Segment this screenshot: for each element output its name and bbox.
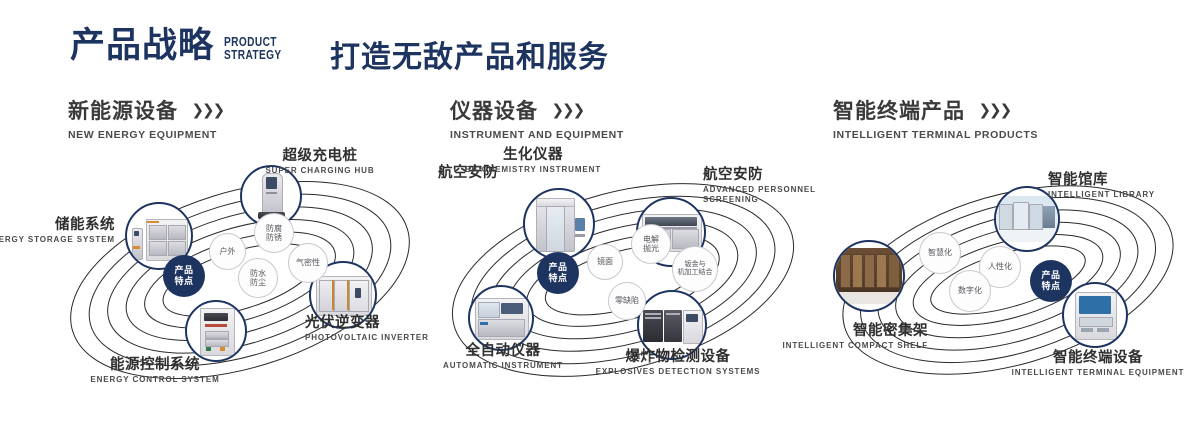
bubble-line1: 数字化	[958, 286, 982, 296]
section-header-new-energy: 新能源设备 ❯❯❯ NEW ENERGY EQUIPMENT	[68, 95, 223, 141]
bubble-feature-airtightness: 气密性	[288, 243, 328, 283]
headline: 打造无敌产品和服务	[330, 32, 609, 76]
node-biochemistry-instrument[interactable]	[523, 188, 595, 260]
bubble-line1: 智慧化	[928, 248, 952, 258]
bubble-feature-outdoor: 户外	[209, 233, 246, 270]
bubble-feature-mirror: 镜面	[587, 244, 623, 280]
bubble-line1: 户外	[220, 247, 236, 257]
bubble-feature-digitized: 数字化	[949, 270, 991, 312]
bubble-line1: 零缺陷	[615, 296, 639, 306]
section-title-cn: 新能源设备	[68, 95, 178, 125]
label-energy-control-system: 能源控制系统 ENERGY CONTROL SYSTEM	[55, 357, 255, 385]
node-automatic-instrument[interactable]	[468, 285, 534, 351]
cluster-intelligent-terminal: 智能馆库 INTELLIGENT LIBRARY 智能密集架 INTELLIGE…	[818, 160, 1198, 395]
label-cn: 智能密集架	[758, 323, 928, 340]
badge-product-features: 产品 特点	[163, 255, 205, 297]
label-en: INTELLIGENT TERMINAL EQUIPMENT	[1008, 368, 1188, 378]
badge-line1: 产品	[548, 262, 567, 273]
label-cn: 生化仪器	[458, 147, 608, 164]
badge-line2: 特点	[1041, 281, 1060, 292]
bubble-line1: 防腐	[266, 224, 282, 234]
bubble-feature-anticorrosion: 防腐 防锈	[254, 213, 294, 253]
cluster-new-energy: 储能系统 ENERGY STORAGE SYSTEM 超级充电桩 SUPER C…	[45, 155, 435, 395]
title-en: PRODUCT STRATEGY	[224, 35, 282, 61]
label-cn: 智能馆库	[1048, 172, 1188, 189]
bubble-feature-electropolishing: 电解 抛光	[631, 224, 671, 264]
node-energy-control-system[interactable]	[185, 300, 247, 362]
title-cn: 产品战略	[70, 28, 214, 63]
section-title-cn: 智能终端产品	[833, 95, 965, 125]
label-en: ENERGY CONTROL SYSTEM	[55, 375, 255, 385]
infographic-page: 产品战略 PRODUCT STRATEGY 打造无敌产品和服务 新能源设备 ❯❯…	[0, 0, 1200, 422]
label-cn: 智能终端设备	[1008, 350, 1188, 367]
section-title-en: INSTRUMENT AND EQUIPMENT	[450, 129, 624, 141]
bubble-line1: 镜面	[597, 257, 613, 267]
section-header-instrument: 仪器设备 ❯❯❯ INSTRUMENT AND EQUIPMENT	[450, 95, 624, 141]
title-en-line2: STRATEGY	[224, 48, 282, 61]
label-intelligent-library: 智能馆库 INTELLIGENT LIBRARY	[1048, 172, 1188, 200]
bubble-line1: 人性化	[988, 262, 1012, 272]
bubble-feature-zero-defect: 零缺陷	[608, 282, 646, 320]
bubble-line2: 防锈	[266, 233, 282, 243]
label-en: BIOCHEMISTRY INSTRUMENT	[458, 165, 608, 175]
label-super-charging-hub: 超级充电桩 SUPER CHARGING HUB	[245, 148, 395, 176]
bubble-line2: 防尘	[250, 278, 266, 288]
section-header-intelligent-terminal: 智能终端产品 ❯❯❯ INTELLIGENT TERMINAL PRODUCTS	[833, 95, 1038, 141]
label-en: AUTOMATIC INSTRUMENT	[423, 361, 583, 371]
badge-line1: 产品	[174, 265, 193, 276]
label-cn: 全自动仪器	[423, 343, 583, 360]
cluster-instrument: 航空安防 生化仪器 BIOCHEMISTRY INSTRUMENT 航空安防 A…	[428, 155, 818, 395]
bubble-feature-intelligent: 智慧化	[919, 232, 961, 274]
label-cn: 能源控制系统	[55, 357, 255, 374]
label-en: INTELLIGENT COMPACT SHELF	[758, 341, 928, 351]
label-en: INTELLIGENT LIBRARY	[1048, 190, 1188, 200]
badge-product-features: 产品 特点	[1030, 260, 1072, 302]
badge-line1: 产品	[1041, 270, 1060, 281]
label-en: EXPLOSIVES DETECTION SYSTEMS	[588, 367, 768, 377]
chevron-right-triple-icon: ❯❯❯	[551, 101, 583, 119]
bubble-feature-waterproof: 防水 防尘	[238, 258, 278, 298]
bubble-feature-sheetmetal-machining: 钣金与 机加工结合	[672, 246, 718, 292]
bubble-line1: 钣金与	[685, 261, 706, 270]
label-explosives-detection-systems: 爆炸物检测设备 EXPLOSIVES DETECTION SYSTEMS	[588, 349, 768, 377]
label-biochemistry-instrument: 生化仪器 BIOCHEMISTRY INSTRUMENT	[458, 147, 608, 175]
label-automatic-instrument: 全自动仪器 AUTOMATIC INSTRUMENT	[423, 343, 583, 371]
label-energy-storage-system: 储能系统 ENERGY STORAGE SYSTEM	[0, 217, 115, 245]
section-title-cn: 仪器设备	[450, 95, 538, 125]
badge-line2: 特点	[548, 273, 567, 284]
bubble-line2: 抛光	[643, 244, 659, 254]
label-en: SUPER CHARGING HUB	[245, 166, 395, 176]
label-intelligent-terminal-equipment: 智能终端设备 INTELLIGENT TERMINAL EQUIPMENT	[1008, 350, 1188, 378]
label-cn: 爆炸物检测设备	[588, 349, 768, 366]
node-intelligent-terminal-equipment[interactable]	[1062, 282, 1128, 348]
badge-product-features: 产品 特点	[537, 252, 579, 294]
label-cn: 储能系统	[0, 217, 115, 234]
brand-title: 产品战略 PRODUCT STRATEGY	[70, 28, 298, 63]
chevron-right-triple-icon: ❯❯❯	[978, 101, 1010, 119]
bubble-line1: 气密性	[296, 258, 320, 268]
chevron-right-triple-icon: ❯❯❯	[191, 101, 223, 119]
node-intelligent-compact-shelf[interactable]	[833, 240, 905, 312]
badge-line2: 特点	[174, 276, 193, 287]
section-title-en: NEW ENERGY EQUIPMENT	[68, 129, 223, 141]
label-intelligent-compact-shelf: 智能密集架 INTELLIGENT COMPACT SHELF	[758, 323, 928, 351]
label-cn: 超级充电桩	[245, 148, 395, 165]
bubble-line1: 防水	[250, 269, 266, 279]
bubble-line1: 电解	[643, 235, 659, 245]
label-en: ENERGY STORAGE SYSTEM	[0, 235, 115, 245]
bubble-line2: 机加工结合	[678, 269, 713, 278]
section-title-en: INTELLIGENT TERMINAL PRODUCTS	[833, 129, 1038, 141]
